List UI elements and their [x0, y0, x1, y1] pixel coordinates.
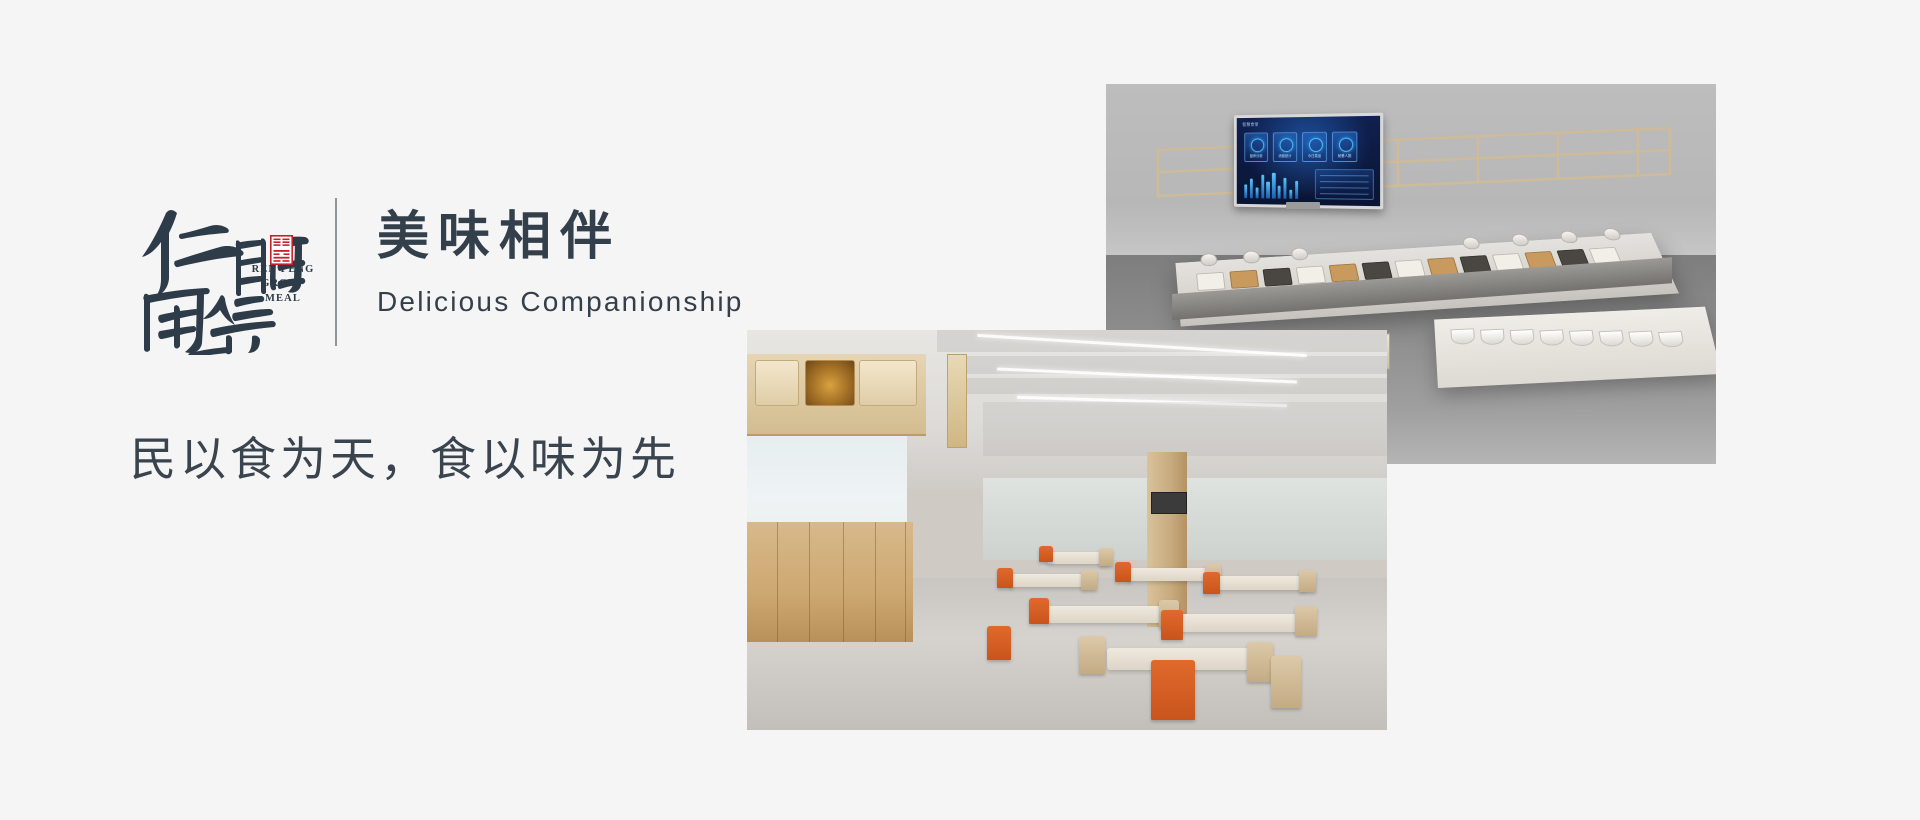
canteen-interior-image — [747, 330, 1387, 730]
display-bar — [1244, 184, 1247, 198]
display-card: 消费统计 — [1273, 132, 1297, 162]
logo-en-line-1: REN PENG — [248, 263, 318, 277]
display-bar — [1261, 175, 1264, 199]
gauge-ring-icon — [1250, 138, 1263, 152]
display-mount — [1286, 202, 1320, 209]
wall-tv-icon — [1151, 492, 1187, 514]
dining-table — [1217, 576, 1307, 590]
logo-english-text: REN PENG GROUP MEAL — [248, 263, 318, 306]
display-card-label: 就餐人数 — [1333, 153, 1356, 158]
dining-chair — [1151, 660, 1195, 720]
display-card: 今日菜品 — [1302, 132, 1327, 162]
dining-chair — [1099, 548, 1113, 566]
display-bar — [1283, 178, 1286, 199]
dining-chair — [1161, 610, 1183, 640]
vertical-divider — [335, 198, 337, 346]
dining-chair — [1115, 562, 1131, 582]
display-bar — [1272, 173, 1275, 199]
gauge-ring-icon — [1279, 138, 1293, 152]
display-card-label: 消费统计 — [1274, 153, 1296, 158]
display-bar-chart — [1244, 173, 1298, 199]
slogan-text: 民以食为天，食以味为先 — [130, 423, 680, 489]
dish-shelf — [1434, 307, 1716, 388]
headline-english: Delicious Companionship — [377, 286, 744, 318]
display-screen-content: 智慧食堂 营养分析 消费统计 今日菜品 就餐人数 — [1237, 116, 1380, 206]
headline-chinese: 美味相伴 — [377, 205, 744, 270]
dining-chair — [1029, 598, 1049, 624]
dining-table — [1127, 568, 1211, 581]
headline-column: 美味相伴 Delicious Companionship — [377, 195, 744, 318]
vertical-sign — [947, 354, 967, 448]
display-bar — [1278, 186, 1281, 199]
display-bar — [1250, 179, 1253, 199]
display-side-panel — [1315, 169, 1374, 200]
display-title: 智慧食堂 — [1242, 122, 1258, 128]
display-bar — [1289, 190, 1292, 199]
dining-chair — [1081, 570, 1097, 590]
gauge-ring-icon — [1308, 138, 1322, 152]
display-card: 就餐人数 — [1332, 131, 1357, 162]
digital-menu-display: 智慧食堂 营养分析 消费统计 今日菜品 就餐人数 — [1234, 113, 1383, 210]
dining-chair — [1271, 656, 1301, 708]
display-bar — [1255, 187, 1258, 198]
brand-banner: 智慧食堂 营养分析 消费统计 今日菜品 就餐人数 — [0, 0, 1920, 820]
renpeng-logo: REN PENG GROUP MEAL — [130, 195, 315, 355]
dining-chair — [1039, 546, 1053, 562]
display-card-label: 今日菜品 — [1303, 153, 1326, 158]
display-bar — [1266, 182, 1269, 199]
ceiling-trellis-frame — [1146, 122, 1686, 227]
dining-chair — [997, 568, 1013, 588]
display-card: 营养分析 — [1244, 132, 1268, 162]
logo-en-line-3: MEAL — [248, 292, 318, 306]
dining-chair — [1203, 572, 1220, 594]
dining-chair — [1295, 606, 1317, 636]
display-card-label: 营养分析 — [1245, 153, 1267, 158]
dining-chair — [1079, 636, 1105, 674]
display-bar — [1295, 181, 1298, 199]
dining-table — [1177, 614, 1307, 632]
red-seal-stamp-icon — [270, 235, 293, 265]
dining-chair — [987, 626, 1011, 660]
service-counter-wood — [747, 522, 913, 642]
brand-text-block: REN PENG GROUP MEAL 美味相伴 Delicious Compa… — [130, 195, 790, 525]
logo-en-line-2: GROUP — [248, 277, 318, 291]
dining-table — [1009, 574, 1087, 587]
gauge-ring-icon — [1338, 138, 1352, 152]
dining-chair — [1299, 570, 1316, 592]
dining-table — [1047, 606, 1165, 623]
brand-lockup-row: REN PENG GROUP MEAL 美味相伴 Delicious Compa… — [130, 195, 744, 355]
dining-chair — [1247, 642, 1273, 682]
